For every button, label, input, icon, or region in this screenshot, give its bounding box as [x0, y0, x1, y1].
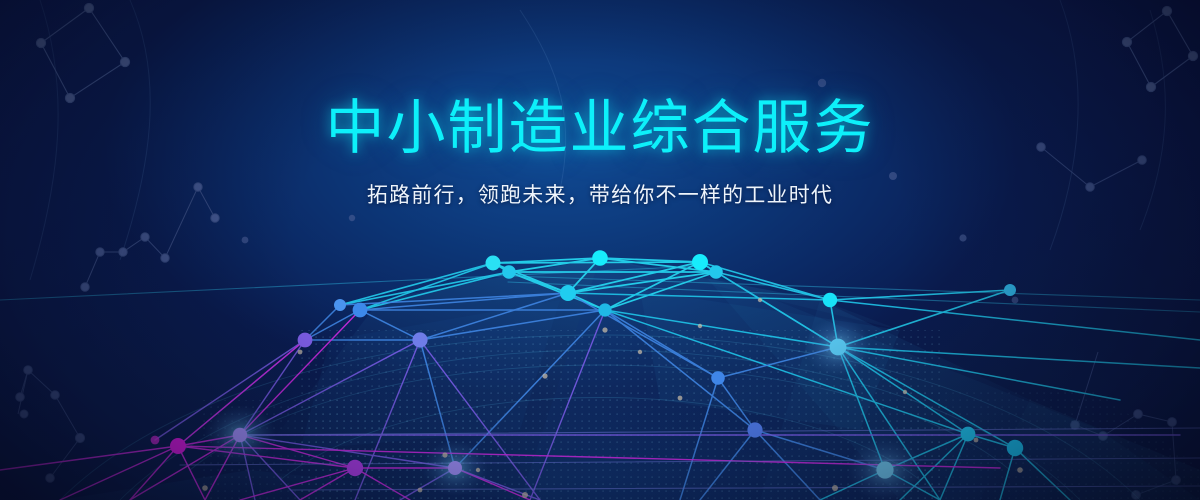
hero-banner: 中小制造业综合服务 拓路前行，领跑未来，带给你不一样的工业时代: [0, 0, 1200, 500]
page-subtitle: 拓路前行，领跑未来，带给你不一样的工业时代: [0, 179, 1200, 209]
page-title: 中小制造业综合服务: [0, 96, 1200, 160]
hero-text-block: 中小制造业综合服务 拓路前行，领跑未来，带给你不一样的工业时代: [0, 96, 1200, 209]
vignette-overlay: [0, 0, 1200, 500]
